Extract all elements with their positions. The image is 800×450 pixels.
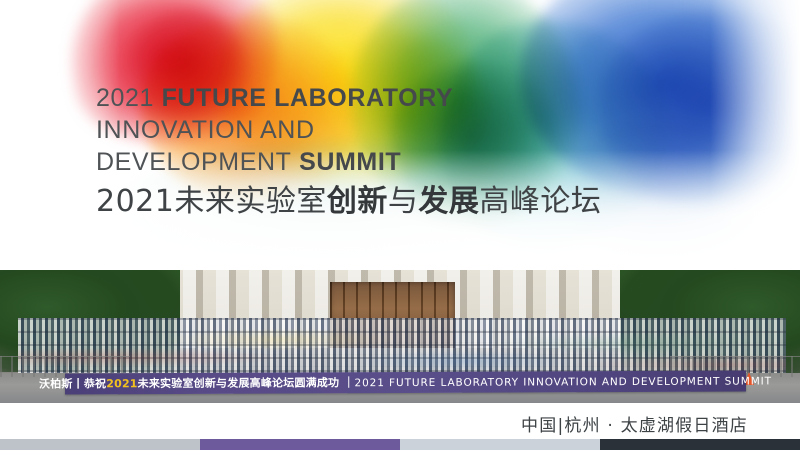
bottom-bar-segment-dark — [600, 439, 800, 450]
banner-separator: 丨 — [73, 377, 84, 390]
banner-divider: ｜ — [343, 376, 354, 389]
subtitle-segment-1: 2021未来实验室 — [96, 184, 327, 219]
subtitle-emphasis-innovation: 创新 — [327, 184, 388, 219]
subtitle-segment-2: 与 — [388, 184, 419, 219]
presentation-slide: 2021 FUTURE LABORATORY INNOVATION AND DE… — [0, 0, 800, 450]
banner-brand: 沃柏斯 — [39, 377, 73, 390]
title-line-3: DEVELOPMENT SUMMIT — [96, 146, 716, 178]
subtitle-segment-3: 高峰论坛 — [479, 184, 601, 219]
bottom-color-bar — [0, 439, 800, 450]
banner-english-title: 2021 FUTURE LABORATORY INNOVATION AND DE… — [355, 375, 772, 389]
banner-year: 2021 — [106, 377, 137, 390]
banner-text: 沃柏斯丨恭祝2021未来实验室创新与发展高峰论坛圆满成功 ｜2021 FUTUR… — [39, 375, 772, 390]
bottom-bar-segment-light — [400, 439, 600, 450]
title-future-laboratory: FUTURE LABORATORY — [162, 84, 454, 112]
title-innovation-and: INNOVATION AND — [96, 116, 315, 144]
title-summit: SUMMIT — [299, 148, 401, 176]
title-year: 2021 — [96, 84, 154, 112]
subtitle-emphasis-development: 发展 — [418, 184, 479, 219]
title-line-2: INNOVATION AND — [96, 114, 716, 146]
bottom-bar-segment-purple — [200, 439, 400, 450]
title-block: 2021 FUTURE LABORATORY INNOVATION AND DE… — [96, 82, 716, 220]
congratulations-banner: 沃柏斯丨恭祝2021未来实验室创新与发展高峰论坛圆满成功 ｜2021 FUTUR… — [65, 371, 746, 395]
banner-congrats-suffix: 未来实验室创新与发展高峰论坛圆满成功 — [138, 376, 340, 390]
hero-right-fade — [710, 0, 800, 270]
title-chinese-subtitle: 2021未来实验室创新与发展高峰论坛 — [96, 184, 716, 220]
banner-congrats-prefix: 恭祝 — [84, 377, 106, 390]
title-line-1: 2021 FUTURE LABORATORY — [96, 82, 716, 114]
title-development: DEVELOPMENT — [96, 148, 292, 176]
venue-location: 中国|杭州 · 太虚湖假日酒店 — [521, 415, 748, 437]
bottom-bar-segment-gray — [0, 439, 200, 450]
